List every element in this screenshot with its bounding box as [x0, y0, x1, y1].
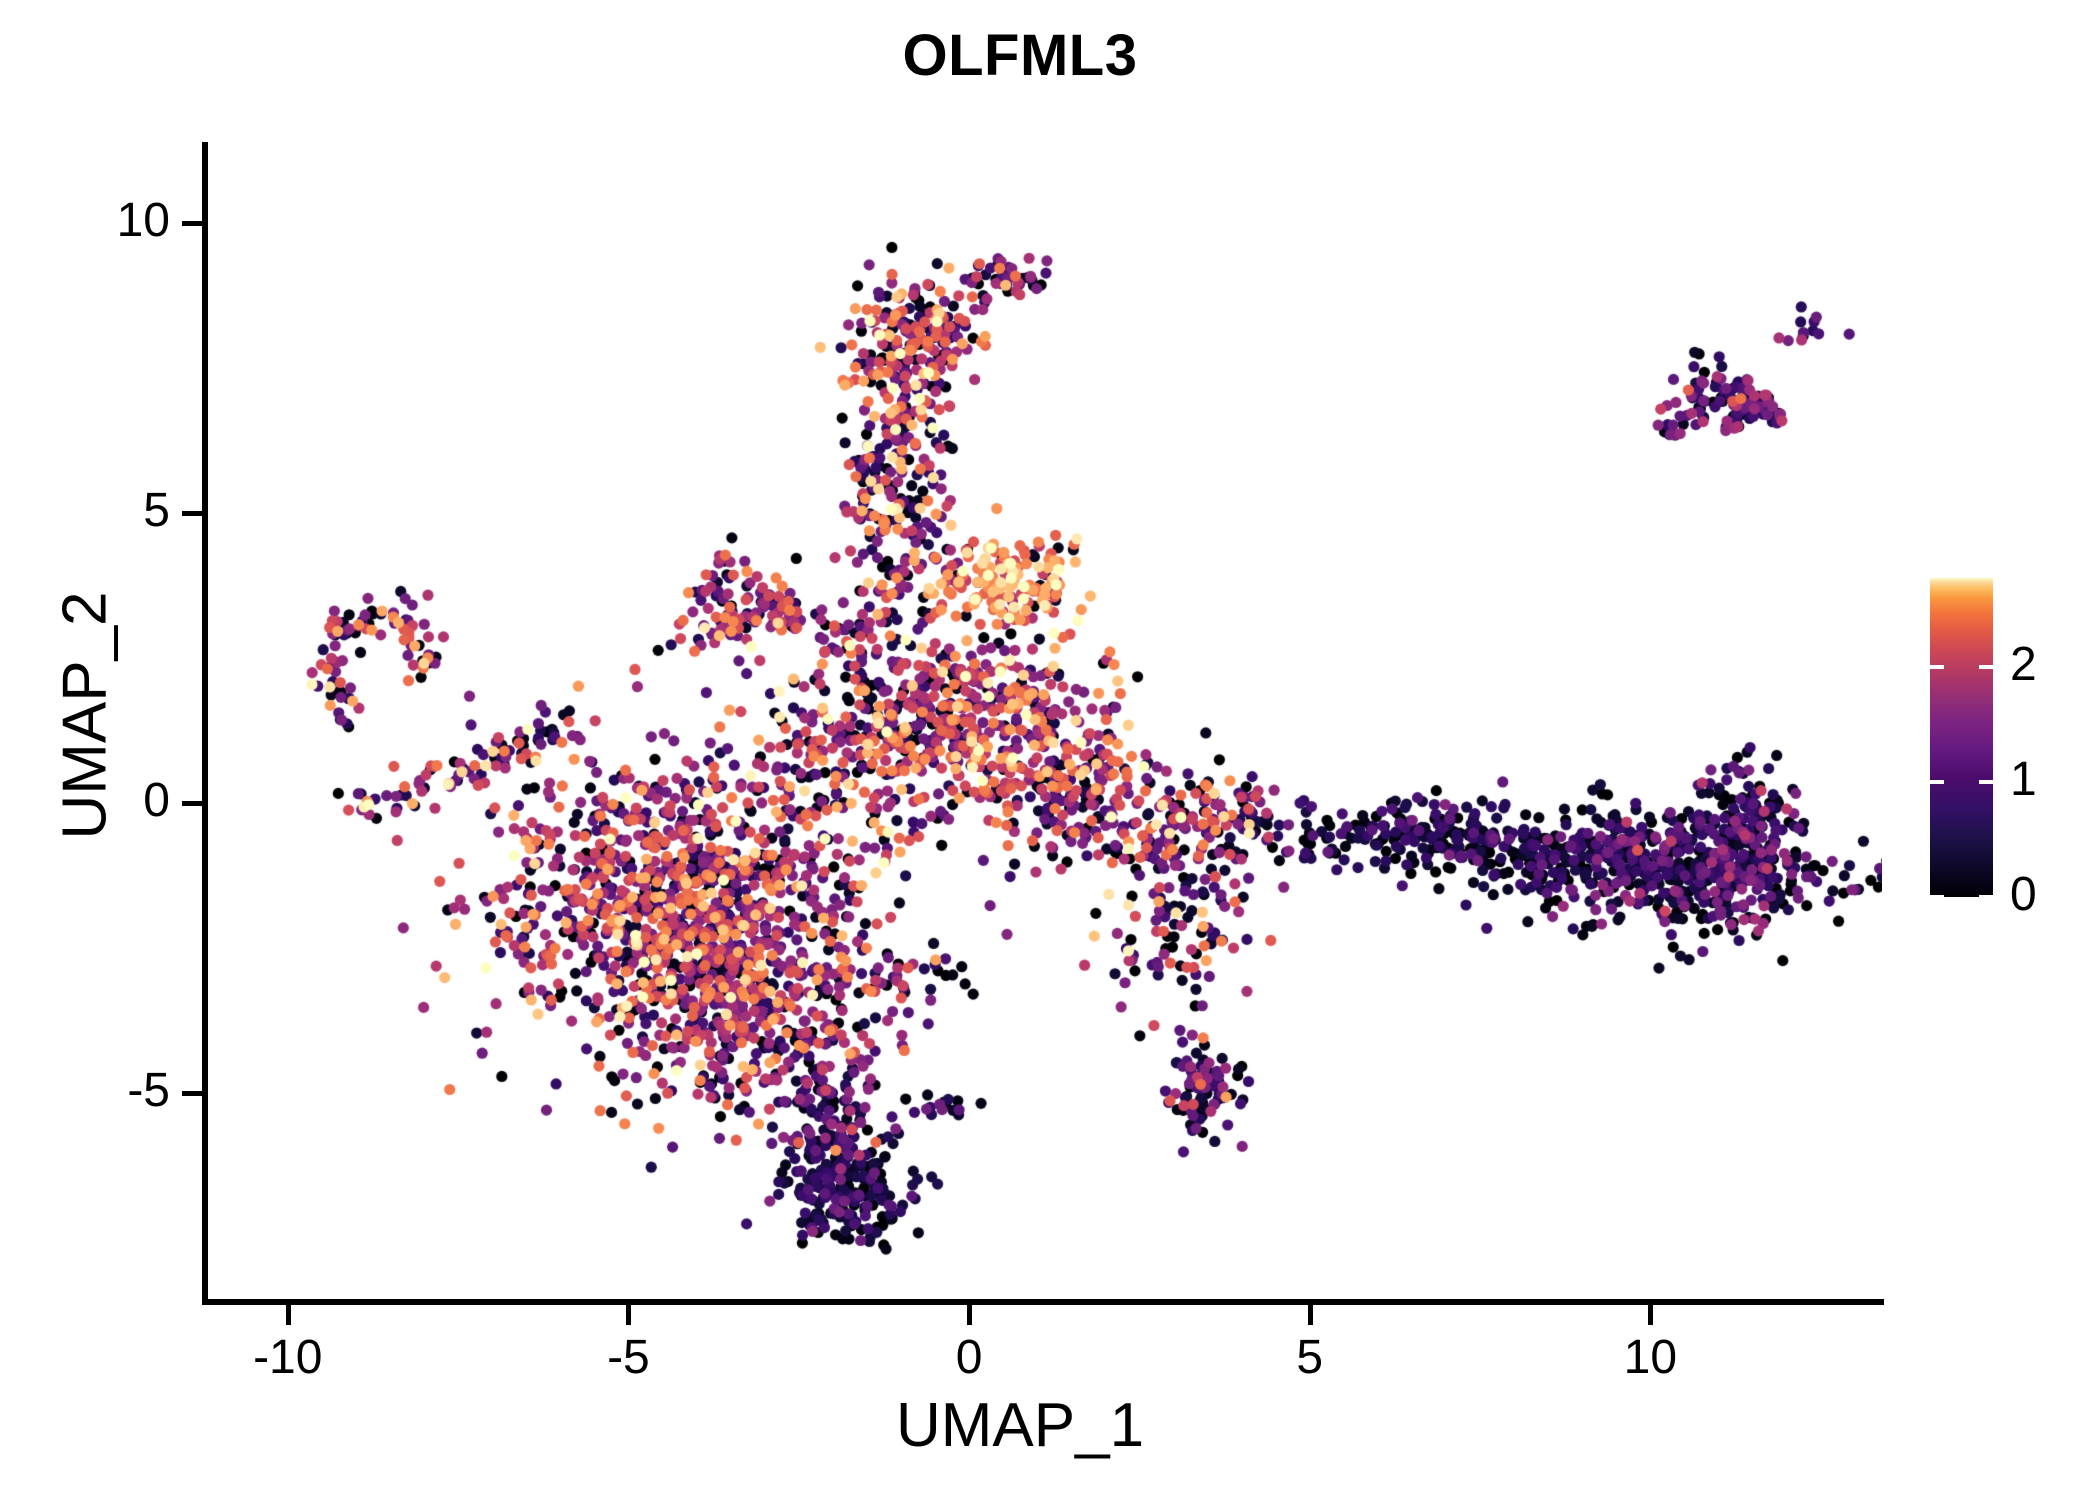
- colorbar-gradient: [1930, 578, 1993, 897]
- y-tick-label: 10: [60, 193, 170, 248]
- colorbar-tick-mark: [1979, 895, 1993, 899]
- x-tick-mark: [286, 1305, 291, 1325]
- x-tick-label: -5: [548, 1330, 708, 1385]
- plot-title: OLFML3: [0, 22, 2060, 89]
- y-tick-mark: [182, 801, 202, 806]
- colorbar-tick-mark: [1979, 665, 1993, 669]
- x-tick-label: -10: [208, 1330, 368, 1385]
- scatter-points-canvas: [206, 142, 1882, 1302]
- x-tick-label: 0: [889, 1330, 1049, 1385]
- y-axis-label: UMAP_2: [50, 396, 121, 1036]
- y-tick-label: -5: [60, 1063, 170, 1118]
- colorbar-tick-label: 1: [2010, 752, 2037, 807]
- plot-root: OLFML3 -50510 -10-50510 UMAP_2 UMAP_1 01…: [0, 0, 2100, 1500]
- x-axis-label: UMAP_1: [0, 1390, 2060, 1461]
- x-axis-line: [202, 1299, 1884, 1305]
- colorbar-tick-mark: [1930, 780, 1944, 784]
- x-tick-mark: [967, 1305, 972, 1325]
- y-tick-mark: [182, 1091, 202, 1096]
- x-tick-mark: [1308, 1305, 1313, 1325]
- x-tick-mark: [626, 1305, 631, 1325]
- y-tick-mark: [182, 511, 202, 516]
- x-tick-label: 5: [1230, 1330, 1390, 1385]
- colorbar-tick-label: 2: [2010, 637, 2037, 692]
- colorbar-tick-mark: [1979, 780, 1993, 784]
- colorbar-tick-mark: [1930, 895, 1944, 899]
- y-tick-mark: [182, 221, 202, 226]
- x-tick-label: 10: [1570, 1330, 1730, 1385]
- colorbar-tick-label: 0: [2010, 867, 2037, 922]
- x-tick-mark: [1648, 1305, 1653, 1325]
- y-axis-line: [202, 142, 208, 1305]
- scatter-panel: [206, 142, 1882, 1302]
- colorbar-tick-mark: [1930, 665, 1944, 669]
